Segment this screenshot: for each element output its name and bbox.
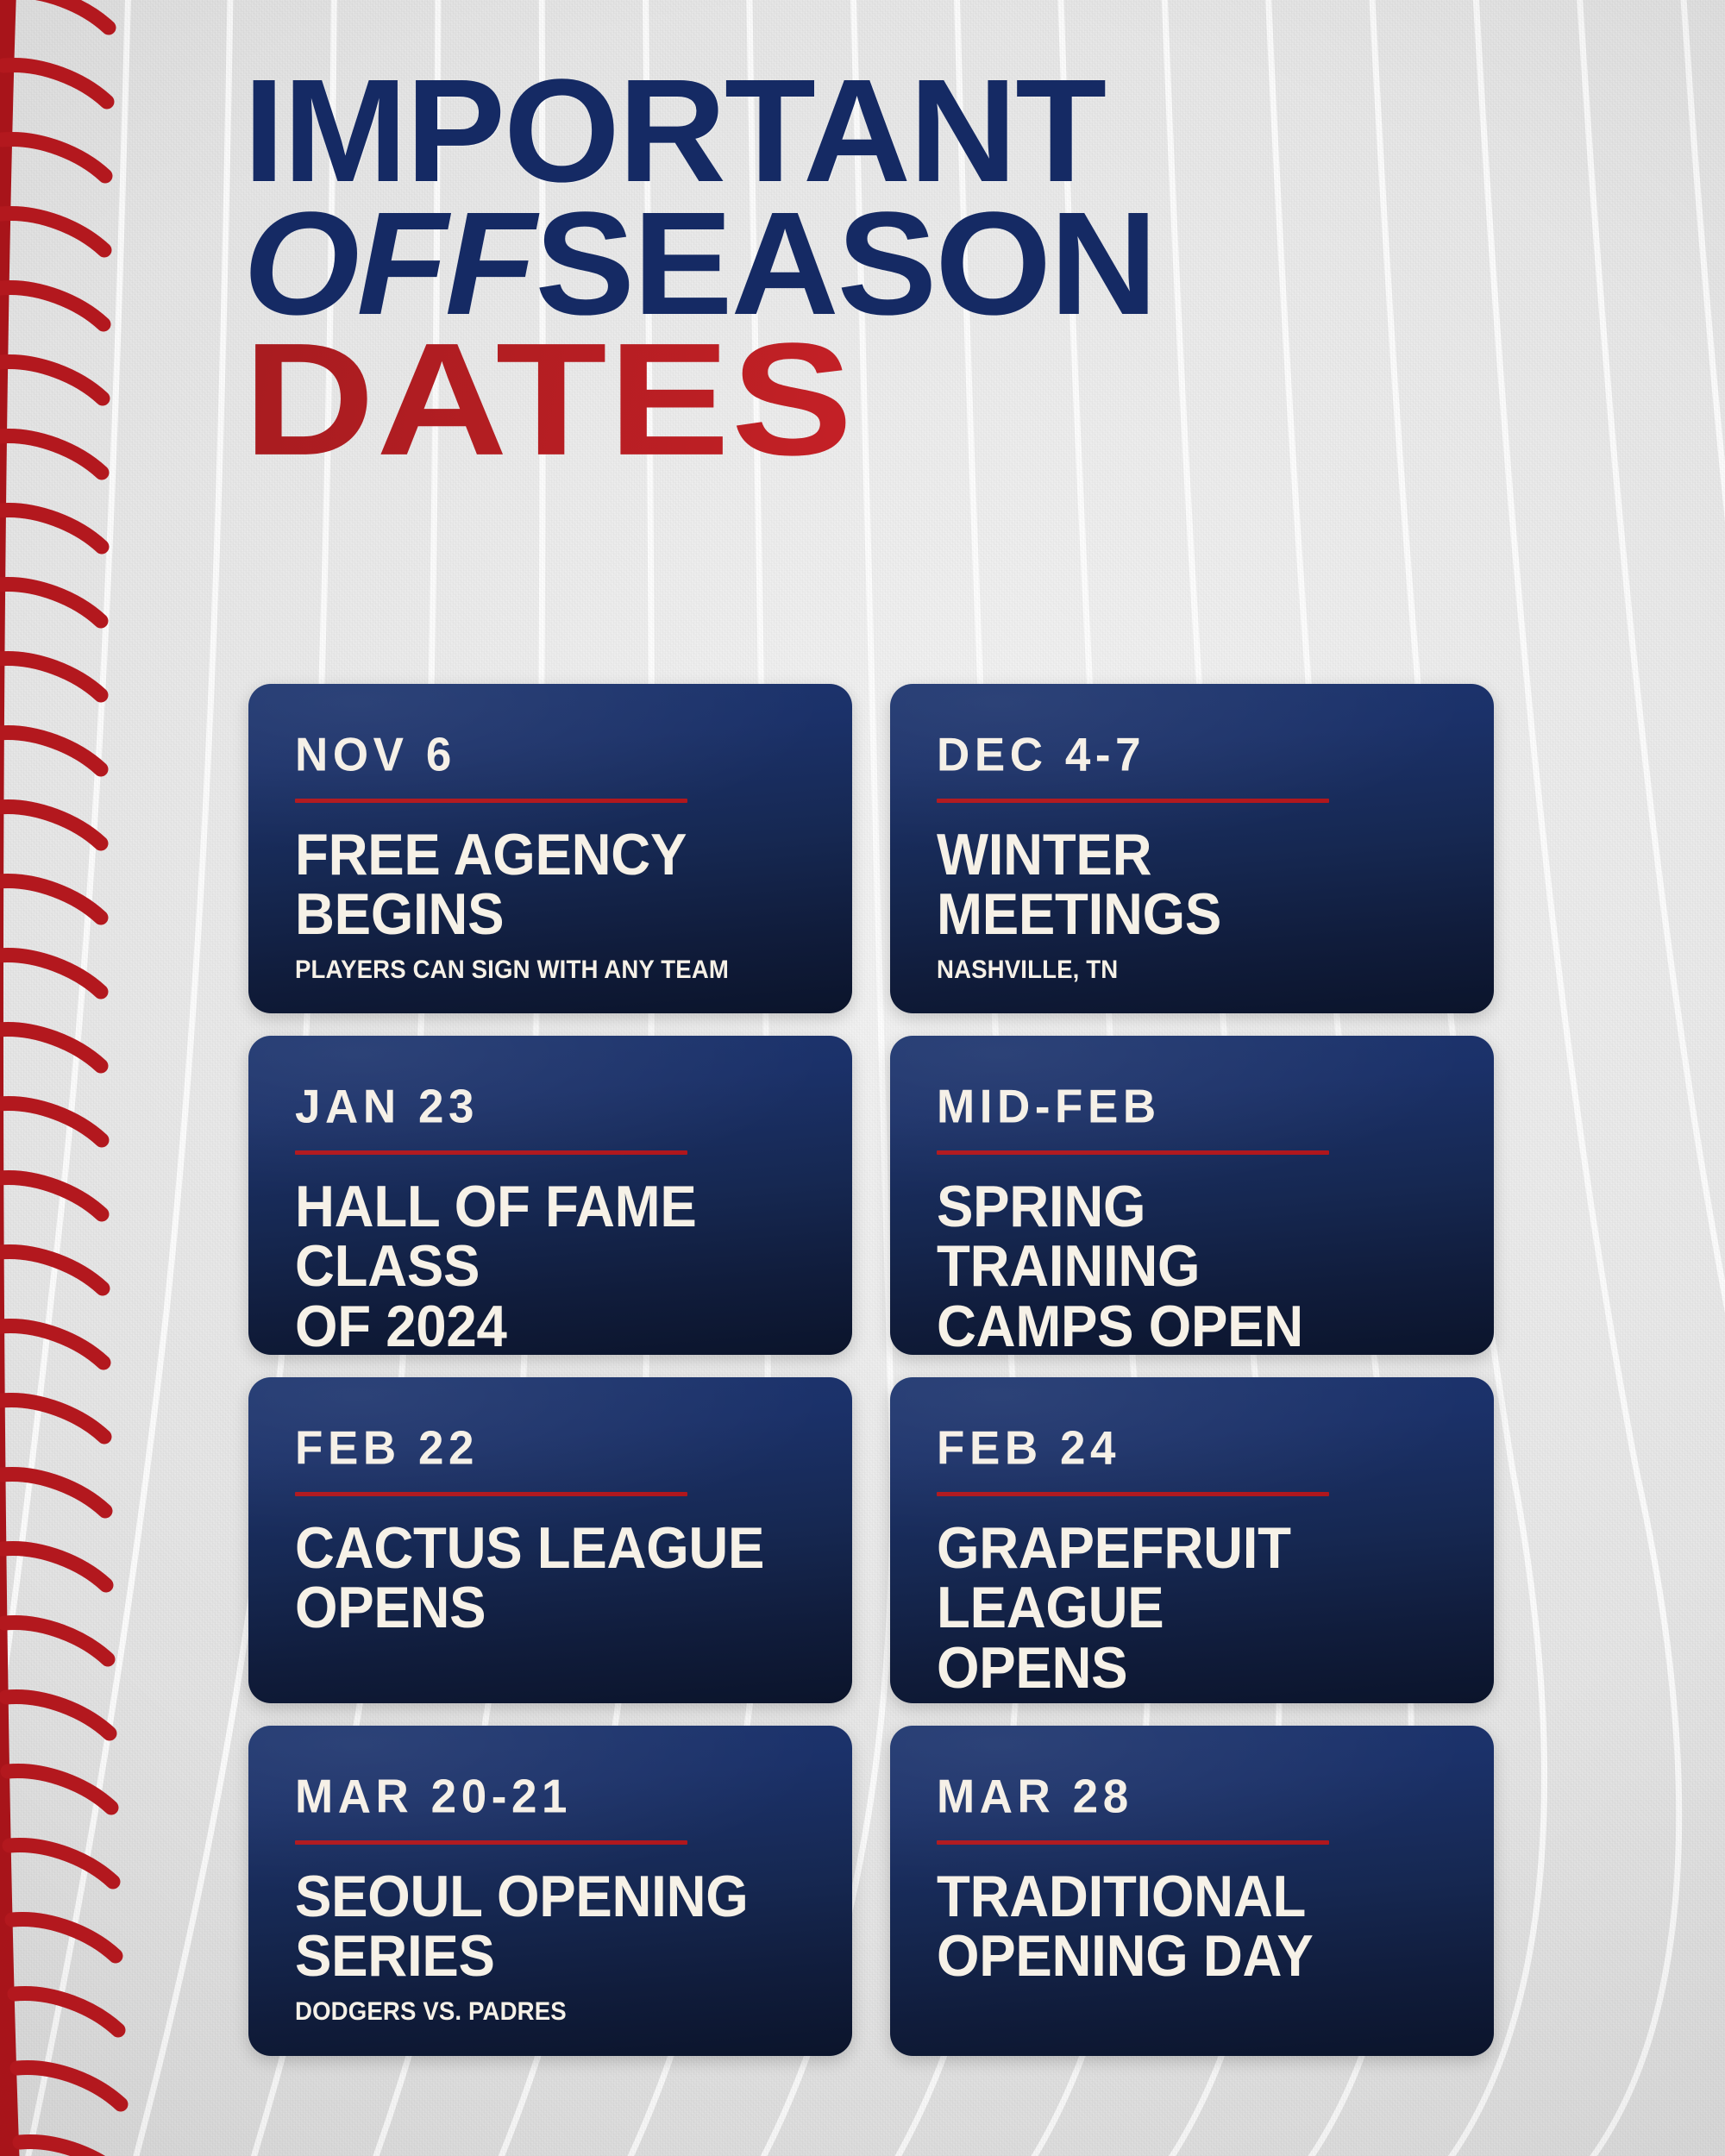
card-red-rule [295, 1840, 687, 1845]
card-date-label: MAR 20-21 [295, 1773, 806, 1821]
poster-canvas: IMPORTANT OFFSEASON DATES NOV 6 FREE AGE… [0, 0, 1725, 2156]
card-date-label: NOV 6 [295, 731, 806, 779]
card-date-label: FEB 24 [937, 1425, 1447, 1472]
date-card[interactable]: DEC 4-7 WINTER MEETINGS NASHVILLE, TN [890, 684, 1494, 1013]
card-title: TRADITIONAL OPENING DAY [937, 1867, 1414, 1987]
card-red-rule [295, 1150, 687, 1155]
card-red-rule [295, 799, 687, 803]
card-subtitle: PLAYERS CAN SIGN WITH ANY TEAM [295, 956, 765, 984]
baseball-seam-icon [0, 0, 198, 2156]
date-card[interactable]: FEB 22 CACTUS LEAGUE OPENS [248, 1377, 852, 1703]
date-card[interactable]: MAR 28 TRADITIONAL OPENING DAY [890, 1726, 1494, 2056]
card-date-label: MAR 28 [937, 1773, 1447, 1821]
card-red-rule [937, 1492, 1329, 1496]
card-subtitle: NASHVILLE, TN [937, 956, 1407, 984]
headline-line-important: IMPORTANT [243, 67, 1546, 197]
date-card[interactable]: JAN 23 HALL OF FAME CLASS OF 2024 ANNOUN… [248, 1036, 852, 1355]
card-date-label: MID-FEB [937, 1083, 1447, 1131]
poster-headline: IMPORTANT OFFSEASON DATES [243, 67, 1520, 466]
card-date-label: FEB 22 [295, 1425, 806, 1472]
card-title: WINTER MEETINGS [937, 825, 1414, 945]
date-card[interactable]: NOV 6 FREE AGENCY BEGINS PLAYERS CAN SIG… [248, 684, 852, 1013]
dates-grid: NOV 6 FREE AGENCY BEGINS PLAYERS CAN SIG… [248, 684, 1494, 2056]
card-title: CACTUS LEAGUE OPENS [295, 1519, 773, 1639]
date-card[interactable]: FEB 24 GRAPEFRUIT LEAGUE OPENS [890, 1377, 1494, 1703]
card-red-rule [295, 1492, 687, 1496]
card-date-label: DEC 4-7 [937, 731, 1447, 779]
card-date-label: JAN 23 [295, 1083, 806, 1131]
card-red-rule [937, 1150, 1329, 1155]
card-title: SEOUL OPENING SERIES [295, 1867, 773, 1987]
card-title: SPRING TRAINING CAMPS OPEN [937, 1177, 1414, 1355]
card-title: GRAPEFRUIT LEAGUE OPENS [937, 1519, 1414, 1698]
date-card[interactable]: MAR 20-21 SEOUL OPENING SERIES DODGERS V… [248, 1726, 852, 2056]
card-subtitle: DODGERS VS. PADRES [295, 1997, 765, 2026]
date-card[interactable]: MID-FEB SPRING TRAINING CAMPS OPEN [890, 1036, 1494, 1355]
card-title: FREE AGENCY BEGINS [295, 825, 773, 945]
card-red-rule [937, 1840, 1329, 1845]
card-title: HALL OF FAME CLASS OF 2024 ANNOUNCED [295, 1177, 773, 1355]
card-red-rule [937, 799, 1329, 803]
headline-line-dates: DATES [243, 330, 1724, 468]
